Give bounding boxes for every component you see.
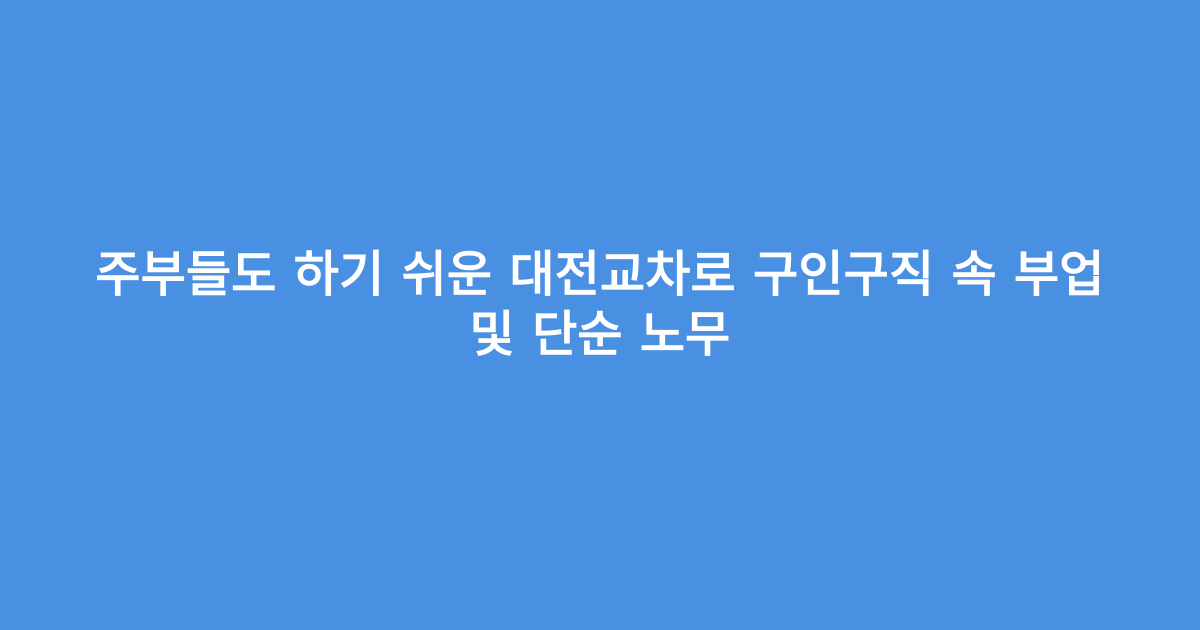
headline-line-2: 및 단순 노무 bbox=[70, 305, 1130, 365]
banner-card: 주부들도 하기 쉬운 대전교차로 구인구직 속 부업 및 단순 노무 bbox=[0, 0, 1200, 630]
page-title: 주부들도 하기 쉬운 대전교차로 구인구직 속 부업 및 단순 노무 bbox=[70, 245, 1130, 365]
headline-line-1: 주부들도 하기 쉬운 대전교차로 구인구직 속 부업 bbox=[70, 245, 1130, 305]
